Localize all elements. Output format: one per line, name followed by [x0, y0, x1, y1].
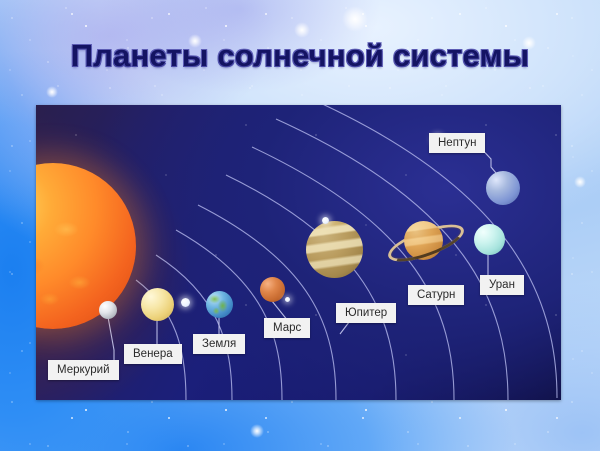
- planet-label-uranus[interactable]: Уран: [480, 275, 524, 295]
- planet-label-neptune[interactable]: Нептун: [429, 133, 485, 153]
- connector-mercury: [108, 317, 114, 360]
- moon-near-jupiter: [322, 217, 329, 224]
- planet-label-saturn[interactable]: Сатурн: [408, 285, 464, 305]
- planet-label-jupiter[interactable]: Юпитер: [336, 303, 396, 323]
- planet-jupiter: [306, 221, 363, 278]
- planet-mars: [260, 277, 285, 302]
- planet-neptune: [486, 171, 520, 205]
- moon-near-mars: [285, 297, 290, 302]
- planet-venus: [141, 288, 174, 321]
- planet-uranus: [474, 224, 505, 255]
- planet-mercury: [99, 301, 117, 319]
- page-title: Планеты солнечной системы: [0, 36, 600, 76]
- slide-root: Планеты солнечной системы: [0, 0, 600, 451]
- moon-near-venus: [181, 298, 190, 307]
- planet-earth: [206, 291, 233, 318]
- planet-label-mars[interactable]: Марс: [264, 318, 310, 338]
- planet-label-mercury[interactable]: Меркурий: [48, 360, 119, 380]
- planet-label-venus[interactable]: Венера: [124, 344, 182, 364]
- planet-label-earth[interactable]: Земля: [193, 334, 245, 354]
- solar-system-diagram: Меркурий Венера Земля Марс Юпитер Сатурн…: [36, 105, 561, 400]
